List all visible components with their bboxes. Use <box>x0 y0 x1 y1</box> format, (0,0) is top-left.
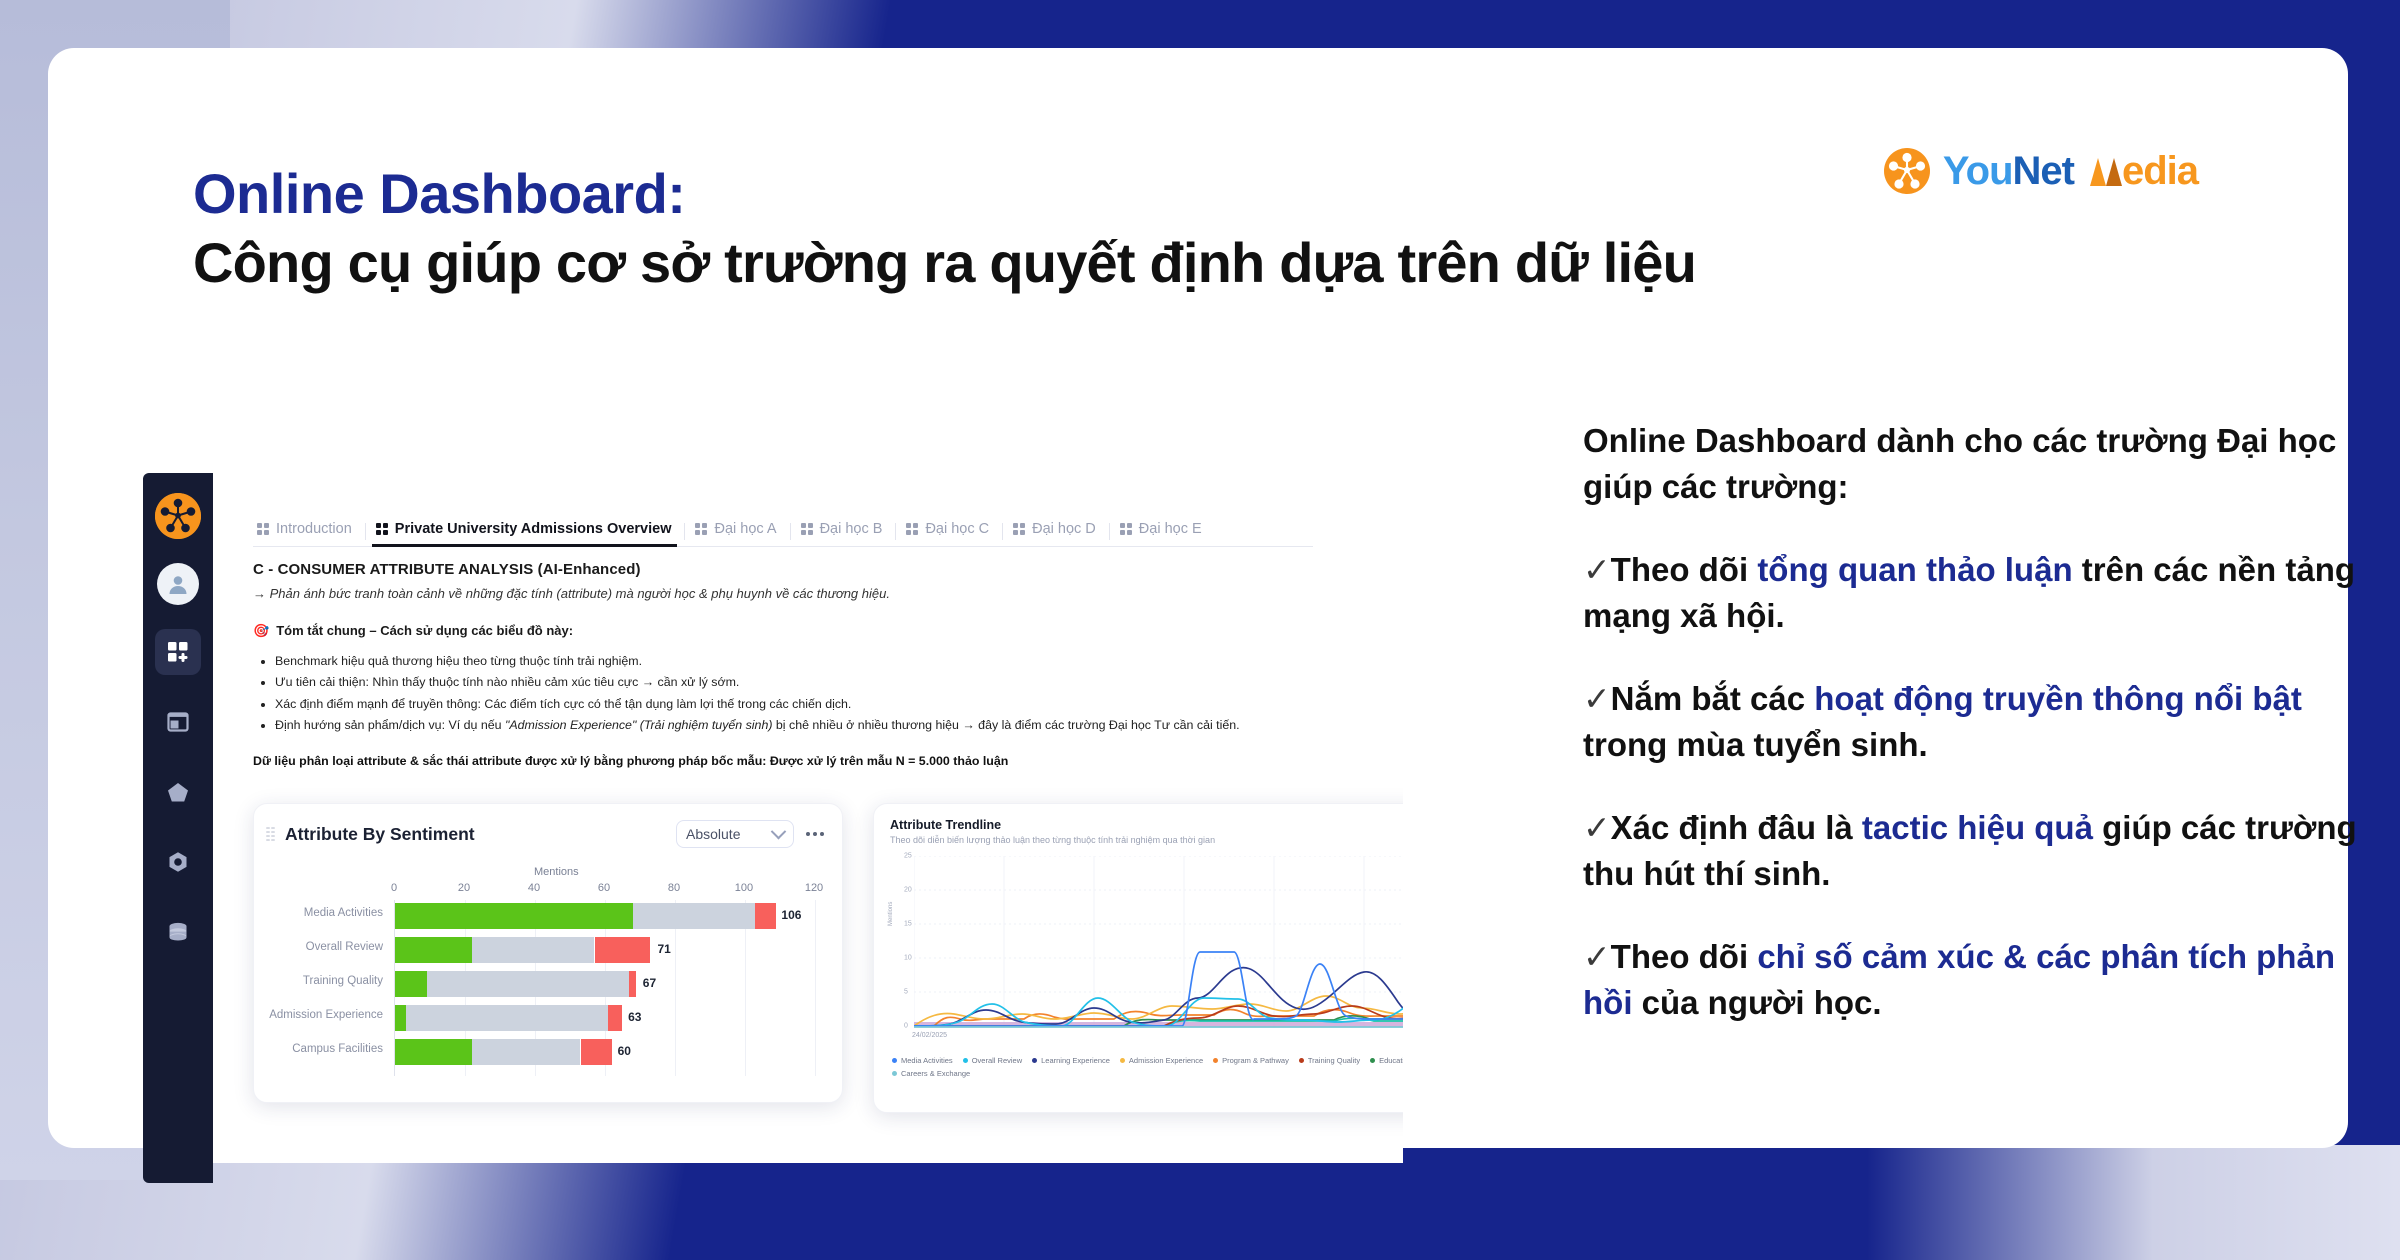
bar-segment-negative <box>608 1005 622 1031</box>
copy-bullet-2: ✓Nắm bắt các hoạt động truyền thông nổi … <box>1583 676 2373 767</box>
bar-total-value: 67 <box>643 976 656 990</box>
tab-dai-hoc-b[interactable]: Đại học B <box>797 521 903 546</box>
value-mode-select[interactable]: Absolute <box>676 820 794 848</box>
tab-private-university-admissions-overview[interactable]: Private University Admissions Overview <box>372 521 692 546</box>
section-text: C - CONSUMER ATTRIBUTE ANALYSIS (AI-Enha… <box>253 561 1333 768</box>
tab-divider <box>365 523 366 540</box>
sidebar-item-pentagon[interactable] <box>155 769 201 815</box>
value-mode-select-value: Absolute <box>686 826 740 842</box>
legend-swatch <box>892 1071 897 1076</box>
list-item: Benchmark hiệu quả thương hiệu theo từng… <box>275 651 1333 672</box>
grid-icon <box>376 523 388 535</box>
line-card-header: Attribute Trendline Theo dõi diễn biến l… <box>890 818 1403 845</box>
copy-bullet-1-bold: tổng quan thảo luận <box>1757 551 2072 588</box>
tab-divider <box>684 523 685 540</box>
copy-bullet-4: ✓Theo dõi chỉ số cảm xúc & các phân tích… <box>1583 934 2373 1025</box>
table-row[interactable]: Media Activities 106 <box>395 903 815 929</box>
legend-item[interactable]: Training Quality <box>1299 1056 1360 1065</box>
x-tick: 20 <box>458 882 470 894</box>
bullet-last-italic-vi: (Trải nghiệm tuyển sinh) <box>636 718 772 732</box>
grid-icon <box>801 523 813 535</box>
legend-label: Training Quality <box>1308 1056 1360 1065</box>
dashboard-screenshot: Introduction Private University Admissio… <box>143 473 1403 1163</box>
title-line-2: Công cụ giúp cơ sở trường ra quyết định … <box>193 232 1696 295</box>
page-title: Online Dashboard: Công cụ giúp cơ sở trư… <box>193 163 1696 294</box>
legend-item[interactable]: Media Activities <box>892 1056 953 1065</box>
bar-axis-title: Mentions <box>534 866 579 878</box>
legend-item[interactable]: Learning Experience <box>1032 1056 1110 1065</box>
section-note: Dữ liệu phân loại attribute & sắc thái a… <box>253 754 1333 768</box>
bullet-last-post: bị chê nhiều ở nhiều thương hiệu → đây l… <box>772 718 1239 732</box>
section-tip-label: Tóm tắt chung – Cách sử dụng các biểu đồ… <box>276 623 573 638</box>
check-icon: ✓ <box>1583 680 1611 717</box>
legend-swatch <box>1213 1058 1218 1063</box>
bullet-last-italic-en: "Admission Experience" <box>505 718 636 732</box>
x-tick: 60 <box>598 882 610 894</box>
bar-segment-positive <box>395 903 633 929</box>
legend-label: Media Activities <box>901 1056 953 1065</box>
legend-item[interactable]: Admission Experience <box>1120 1056 1203 1065</box>
copy-bullet-3: ✓Xác định đâu là tactic hiệu quả giúp cá… <box>1583 805 2373 896</box>
legend-swatch <box>1299 1058 1304 1063</box>
copy-bullet-3-bold: tactic hiệu quả <box>1862 809 2093 846</box>
tab-label: Đại học C <box>925 521 989 537</box>
bar-plot-area: Media Activities 106 Overall Review <box>394 900 815 1076</box>
grid-icon <box>695 523 707 535</box>
copy-bullet-1: ✓Theo dõi tổng quan thảo luận trên các n… <box>1583 547 2373 638</box>
bar-category-label: Training Quality <box>303 975 383 987</box>
younet-flower-icon <box>1884 148 1930 194</box>
bar-segment-neutral <box>633 903 756 929</box>
copy-intro: Online Dashboard dành cho các trường Đại… <box>1583 418 2373 509</box>
bar-segment-negative <box>581 1039 613 1065</box>
trendline-plot <box>914 856 1403 1036</box>
legend-item[interactable]: Overall Review <box>963 1056 1022 1065</box>
dashboard-content: Introduction Private University Admissio… <box>213 473 1403 1163</box>
sidebar-item-data-sources[interactable] <box>155 909 201 955</box>
list-item: Ưu tiên cải thiện: Nhìn thấy thuộc tính … <box>275 672 1333 693</box>
bar-segment-negative <box>595 937 651 963</box>
pentagon-icon <box>166 780 190 804</box>
legend-label: Education Fees <box>1379 1056 1403 1065</box>
legend-label: Admission Experience <box>1129 1056 1203 1065</box>
legend-label: Learning Experience <box>1041 1056 1110 1065</box>
check-icon: ✓ <box>1583 938 1611 975</box>
tab-divider <box>895 523 896 540</box>
table-row[interactable]: Training Quality 67 <box>395 971 815 997</box>
legend-label: Program & Pathway <box>1222 1056 1289 1065</box>
legend-swatch <box>963 1058 968 1063</box>
section-heading: C - CONSUMER ATTRIBUTE ANALYSIS (AI-Enha… <box>253 561 1333 578</box>
legend-swatch <box>1032 1058 1037 1063</box>
logo-text-you: You <box>1943 149 2013 193</box>
bar-x-ticks: 0 20 40 60 80 100 120 <box>394 882 814 896</box>
line-card-subtitle: Theo dõi diễn biến lượng thảo luận theo … <box>890 835 1403 845</box>
section-bullet-list: Benchmark hiệu quả thương hiệu theo từng… <box>253 651 1333 736</box>
tab-label: Introduction <box>276 521 352 537</box>
legend-label: Overall Review <box>972 1056 1022 1065</box>
x-tick: 40 <box>528 882 540 894</box>
y-tick: 25 <box>904 853 912 860</box>
background-bottom-fade <box>1750 1145 2400 1260</box>
copy-bullet-2-bold: hoạt động truyền thông nổi bật <box>1814 680 2302 717</box>
y-tick: 0 <box>904 1023 908 1030</box>
line-card-title: Attribute Trendline <box>890 818 1403 832</box>
bar-segment-neutral <box>472 937 595 963</box>
younet-flower-icon <box>155 493 201 539</box>
bar-category-label: Media Activities <box>304 907 383 919</box>
tab-label: Private University Admissions Overview <box>395 521 672 537</box>
bar-total-value: 71 <box>658 942 671 956</box>
list-item-last: Định hướng sản phẩm/dịch vụ: Ví dụ nếu "… <box>275 715 1333 736</box>
list-item: Xác định điểm mạnh để truyền thông: Các … <box>275 694 1333 715</box>
bar-total-value: 106 <box>781 908 801 922</box>
hexagon-gear-icon <box>166 850 190 874</box>
grid-icon <box>906 523 918 535</box>
bar-segment-neutral <box>472 1039 580 1065</box>
user-avatar-icon <box>165 571 191 597</box>
bar-category-label: Overall Review <box>306 941 383 953</box>
table-row[interactable]: Overall Review 71 <box>395 937 815 963</box>
x-tick: 80 <box>668 882 680 894</box>
tab-introduction[interactable]: Introduction <box>253 521 372 546</box>
bar-category-label: Admission Experience <box>269 1009 383 1021</box>
grid-icon <box>1120 523 1132 535</box>
tab-divider <box>1002 523 1003 540</box>
bar-segment-neutral <box>406 1005 609 1031</box>
bar-card-actions: Absolute <box>676 820 824 848</box>
database-icon <box>166 920 190 944</box>
slide-card: Online Dashboard: Công cụ giúp cơ sở trư… <box>48 48 2348 1148</box>
bullet-last-pre: Định hướng sản phẩm/dịch vụ: Ví dụ nếu <box>275 718 505 732</box>
section-tip: 🎯 Tóm tắt chung – Cách sử dụng các biểu … <box>253 623 1333 639</box>
drag-handle-icon[interactable] <box>266 827 275 841</box>
benefits-copy: Online Dashboard dành cho các trường Đại… <box>1583 418 2373 1063</box>
bar-segment-positive <box>395 1005 406 1031</box>
bar-total-value: 60 <box>618 1044 631 1058</box>
copy-bullet-4-post: của người học. <box>1632 984 1881 1021</box>
legend-item[interactable]: Program & Pathway <box>1213 1056 1289 1065</box>
bar-category-label: Campus Facilities <box>292 1043 383 1055</box>
copy-bullet-2-pre: Nắm bắt các <box>1611 680 1815 717</box>
attribute-trendline-chart: Mentions 25 20 15 10 5 0 <box>890 856 1403 1046</box>
bar-segment-neutral <box>427 971 630 997</box>
grid-plus-icon <box>166 640 190 664</box>
x-tick: 100 <box>735 882 753 894</box>
target-icon: 🎯 <box>253 623 269 639</box>
attribute-trendline-card: Attribute Trendline Theo dõi diễn biến l… <box>873 803 1403 1113</box>
grid-icon <box>1013 523 1025 535</box>
legend-swatch <box>1370 1058 1375 1063</box>
tab-label: Đại học D <box>1032 521 1096 537</box>
attribute-by-sentiment-chart: Mentions 0 20 40 60 80 100 120 <box>266 866 828 1088</box>
legend-item[interactable]: Careers & Exchange <box>892 1069 970 1078</box>
line-x-start-label: 24/02/2025 <box>912 1032 947 1039</box>
bar-segment-negative <box>755 903 776 929</box>
tab-divider <box>1109 523 1110 540</box>
section-subheading: → Phản ánh bức tranh toàn cảnh về những … <box>253 586 1333 601</box>
bar-segment-positive <box>395 937 472 963</box>
legend-swatch <box>1120 1058 1125 1063</box>
attribute-by-sentiment-card: Attribute By Sentiment Absolute Mentions <box>253 803 843 1103</box>
bar-card-header: Attribute By Sentiment Absolute <box>266 820 824 848</box>
copy-bullet-4-pre: Theo dõi <box>1611 938 1758 975</box>
tab-label: Đại học B <box>820 521 883 537</box>
table-row[interactable]: Admission Experience 63 <box>395 1005 815 1031</box>
tab-dai-hoc-c[interactable]: Đại học C <box>902 521 1009 546</box>
x-tick: 0 <box>391 882 397 894</box>
check-icon: ✓ <box>1583 551 1611 588</box>
table-row[interactable]: Campus Facilities 60 <box>395 1039 815 1065</box>
tab-dai-hoc-d[interactable]: Đại học D <box>1009 521 1116 546</box>
line-y-axis-label: Mentions <box>888 902 894 926</box>
bar-segment-negative <box>629 971 636 997</box>
copy-bullet-3-pre: Xác định đâu là <box>1611 809 1862 846</box>
tab-dai-hoc-a[interactable]: Đại học A <box>691 521 796 546</box>
logo-wordmark: YouNet edia <box>1943 151 2198 191</box>
dashboard-cards: Attribute By Sentiment Absolute Mentions <box>253 803 1403 1113</box>
copy-bullet-1-pre: Theo dõi <box>1611 551 1758 588</box>
trendline-legend: Media Activities Overall Review Learning… <box>892 1056 1403 1078</box>
check-icon: ✓ <box>1583 809 1611 846</box>
tab-label: Đại học A <box>714 521 776 537</box>
y-tick: 15 <box>904 921 912 928</box>
chevron-down-icon <box>771 823 787 839</box>
logo-text-net: Net <box>2013 149 2074 193</box>
gridline <box>815 900 816 1076</box>
sidebar-item-settings[interactable] <box>155 839 201 885</box>
dashboard-tabbar: Introduction Private University Admissio… <box>253 506 1313 547</box>
sidebar-item-brand-logo[interactable] <box>155 493 201 539</box>
bar-segment-positive <box>395 971 427 997</box>
legend-swatch <box>892 1058 897 1063</box>
sidebar-item-account[interactable] <box>157 563 199 605</box>
legend-item[interactable]: Education Fees <box>1370 1056 1403 1065</box>
y-tick: 5 <box>904 989 908 996</box>
tab-label: Đại học E <box>1139 521 1202 537</box>
logo-m-mountain-icon <box>2088 154 2124 188</box>
bar-total-value: 63 <box>628 1010 641 1024</box>
sidebar-item-dashboards[interactable] <box>155 629 201 675</box>
grid-icon <box>257 523 269 535</box>
y-tick: 10 <box>904 955 912 962</box>
copy-bullet-2-post: trong mùa tuyển sinh. <box>1583 726 1928 763</box>
layout-panel-icon <box>166 710 190 734</box>
tab-dai-hoc-e[interactable]: Đại học E <box>1116 521 1222 546</box>
legend-label: Careers & Exchange <box>901 1069 970 1078</box>
younet-media-logo: YouNet edia <box>1884 148 2198 194</box>
dashboard-sidebar <box>143 473 213 1183</box>
title-line-1: Online Dashboard: <box>193 163 1696 226</box>
bar-segment-positive <box>395 1039 472 1065</box>
more-options-button[interactable] <box>806 832 824 836</box>
logo-text-media: edia <box>2122 149 2198 193</box>
tab-divider <box>790 523 791 540</box>
y-tick: 20 <box>904 887 912 894</box>
x-tick: 120 <box>805 882 823 894</box>
bar-card-title: Attribute By Sentiment <box>285 824 475 845</box>
sidebar-item-layouts[interactable] <box>155 699 201 745</box>
